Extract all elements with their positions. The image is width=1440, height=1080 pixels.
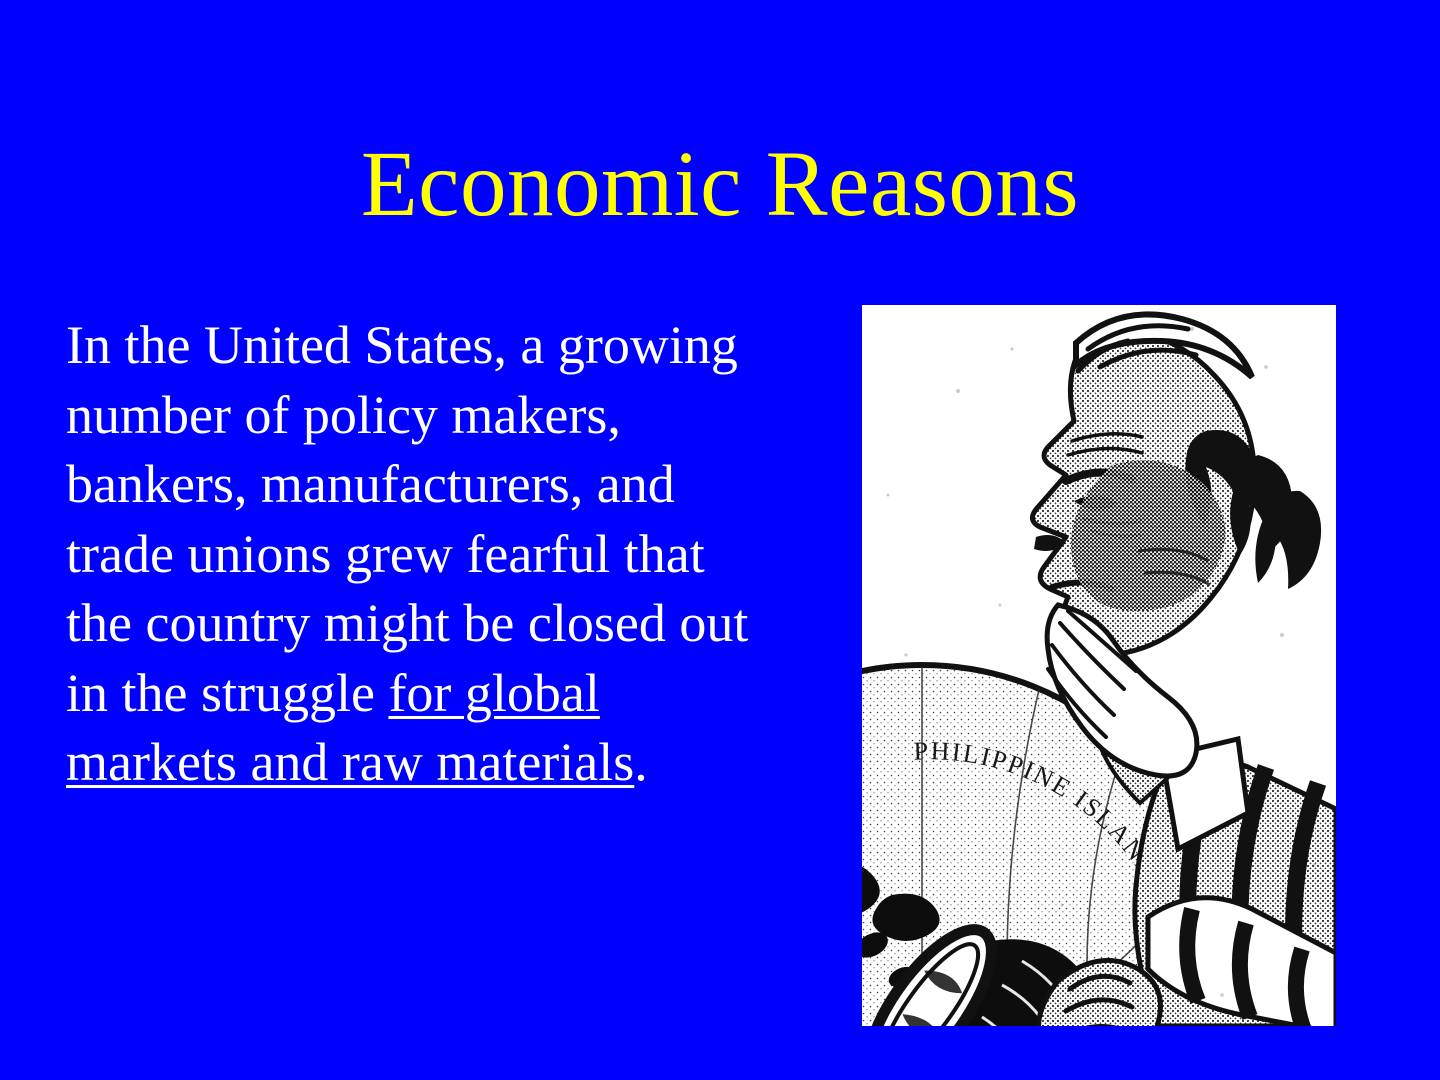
body-text-block: In the United States, a growing number o…	[66, 311, 766, 798]
page-title: Economic Reasons	[0, 136, 1440, 234]
uncle-sam-cartoon-illustration: PHILIPPINE ISLANDS	[862, 305, 1336, 1026]
presentation-slide: Economic Reasons In the United States, a…	[0, 0, 1440, 1080]
cartoon-image: PHILIPPINE ISLANDS	[862, 305, 1336, 1026]
body-text-segment-period: .	[634, 732, 648, 792]
body-text-segment-plain: In the United States, a growing number o…	[66, 315, 748, 723]
